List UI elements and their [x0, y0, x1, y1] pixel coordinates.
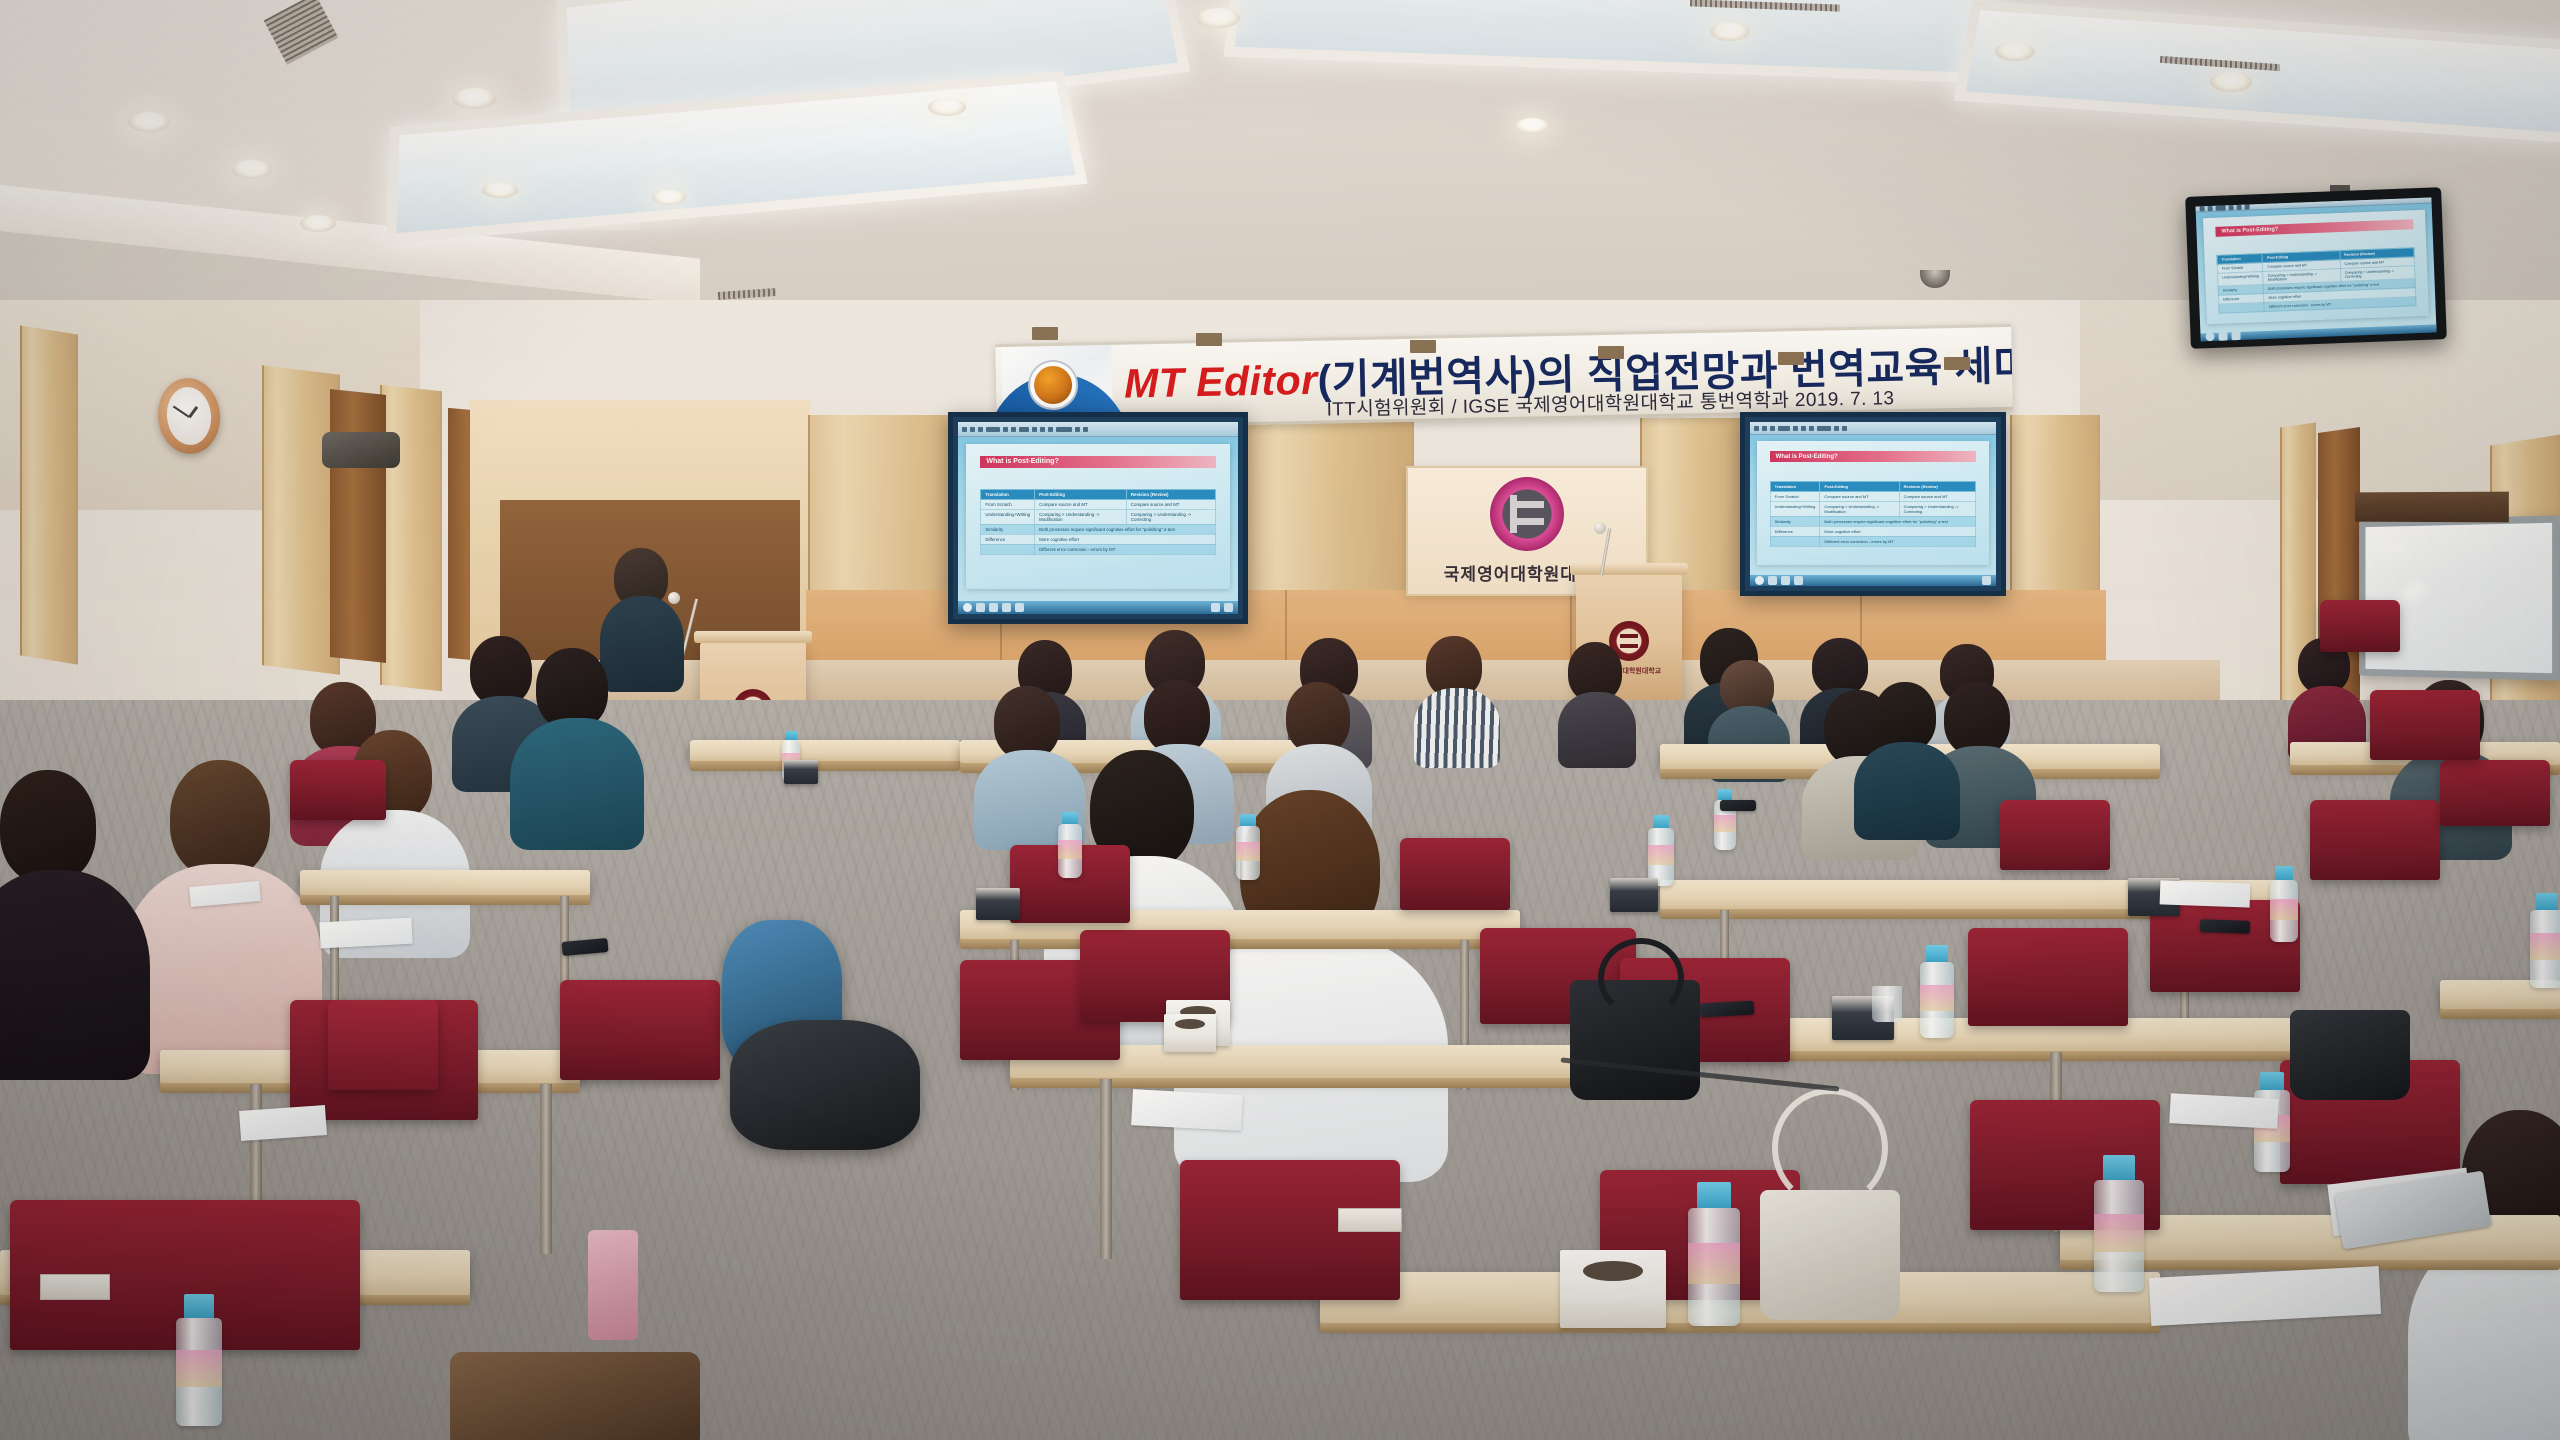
slide-col-0: Translation: [981, 489, 1035, 499]
desk-row2-left: [300, 870, 590, 896]
chair-18[interactable]: [1400, 838, 1510, 910]
wall-door-left[interactable]: [330, 389, 386, 663]
paper-5[interactable]: [2160, 880, 2251, 907]
paper-2[interactable]: [1131, 1089, 1243, 1131]
bottle-label: [2530, 933, 2560, 960]
body: [510, 718, 644, 850]
phone-2[interactable]: [1700, 1001, 1755, 1018]
cell-3-0: Difference: [981, 534, 1035, 544]
tissue-box-7[interactable]: [784, 760, 818, 784]
r-row-4: Different error correction - errors by M…: [1770, 536, 1976, 546]
tissue-box-6[interactable]: [976, 888, 1020, 920]
bottle-cap: [2275, 866, 2293, 880]
tote-bag-white[interactable]: [1760, 1190, 1900, 1320]
taskbar-right[interactable]: [1750, 575, 1996, 586]
tissue-box-1[interactable]: [1560, 1250, 1666, 1328]
ceiling-downlight-6: [652, 190, 686, 205]
slide-col-1: Post-Editing: [1035, 489, 1127, 499]
desk-leg-8: [540, 1084, 552, 1254]
r-row-3: Difference More cognitive effort: [1770, 526, 1976, 536]
head: [0, 770, 96, 884]
r-cell-1-1: Comparing > Understanding -> Modificatio…: [1820, 501, 1899, 516]
bottle-label: [1920, 985, 1954, 1011]
clock-face: [164, 385, 214, 447]
ceiling-downlight-5: [482, 182, 518, 198]
phone-4[interactable]: [1720, 800, 1756, 811]
banner-bracket-4: [1598, 346, 1624, 359]
left-projection-screen: What is Post-Editing? Translation Post-E…: [948, 412, 1248, 624]
r-cell-3-1: More cognitive effort: [1820, 526, 1976, 536]
head: [1144, 680, 1210, 754]
bottle-cap: [785, 731, 797, 740]
jacket-on-chair: [322, 432, 400, 468]
desk-back-left: [690, 740, 960, 762]
handbag-handle: [1598, 938, 1684, 1018]
cell-4-0: [981, 544, 1035, 554]
water-bottle-8[interactable]: [1058, 824, 1082, 878]
head: [994, 686, 1060, 760]
body: [1854, 742, 1960, 840]
water-bottle-11[interactable]: [2530, 910, 2560, 988]
water-bottle-2[interactable]: [1688, 1208, 1740, 1326]
slide-row-3: Difference More cognitive effort: [981, 534, 1215, 544]
igse-crest-emblem: [1490, 477, 1564, 551]
cell-0-1: Compare source and MT: [1035, 499, 1127, 509]
crest-stem: [1510, 495, 1517, 533]
ceiling-downlight-12: [1515, 118, 1549, 133]
tv-cell-4-0: [2219, 303, 2265, 314]
r-row-0: From Scratch Compare source and MT Compa…: [1770, 491, 1976, 501]
water-bottle-3[interactable]: [2094, 1180, 2144, 1292]
bottle-cap: [1926, 945, 1948, 962]
water-bottle-1[interactable]: [176, 1318, 222, 1426]
body: [1558, 692, 1636, 768]
water-bottle-7[interactable]: [1236, 826, 1260, 880]
chair-20[interactable]: [290, 760, 386, 820]
water-bottle-4[interactable]: [1920, 962, 1954, 1038]
ceiling-downlight-2: [232, 160, 272, 179]
body: [1414, 688, 1500, 768]
ceiling-downlight-4: [452, 88, 496, 109]
whiteboard-glare-1: [2378, 542, 2406, 552]
r-cell-1-2: Comparing > Understanding -> Correcting: [1899, 501, 1976, 516]
clock-minute-hand: [173, 406, 190, 418]
slide-title-tv: What is Post-Editing?: [2215, 220, 2413, 238]
banner-bracket-3: [1410, 340, 1436, 353]
r-cell-3-0: Difference: [1770, 526, 1820, 536]
r-cell-1-0: Understanding+Writing: [1770, 501, 1820, 516]
bottle-cap: [1718, 789, 1732, 800]
bottle-cap: [184, 1294, 213, 1318]
cell-1-1: Comparing > Understanding -> Modificatio…: [1035, 509, 1127, 524]
whiteboard-glare-2: [2400, 578, 2428, 603]
tissue-opening: [1583, 1261, 1642, 1281]
right-screen-slide: What is Post-Editing? Translation Post-E…: [1750, 422, 1996, 586]
water-bottle-5[interactable]: [2270, 880, 2298, 942]
ceiling-downlight-7: [928, 98, 966, 116]
banner-bracket-1: [1032, 327, 1058, 340]
bottle-cap: [1062, 812, 1077, 824]
bottle-cap: [2536, 893, 2558, 910]
tissue-box-8[interactable]: [1164, 1014, 1216, 1052]
head: [1944, 682, 2010, 756]
cell-4-1: Different error correction - errors by M…: [1035, 544, 1216, 554]
cell-2-1: Both processes require significant cogni…: [1035, 524, 1216, 534]
phone-3[interactable]: [2200, 919, 2250, 934]
powerpoint-toolbar-right[interactable]: [1750, 422, 1996, 435]
r-cell-0-1: Compare source and MT: [1820, 491, 1899, 501]
chair-19[interactable]: [2000, 800, 2110, 870]
podium-center-top: [1570, 563, 1689, 575]
r-cell-4-0: [1770, 536, 1820, 546]
tissue-opening: [1175, 1019, 1204, 1029]
left-screen-slide: What is Post-Editing? Translation Post-E…: [958, 422, 1238, 614]
desk-leg-9: [1100, 1079, 1112, 1259]
bottle-label: [1714, 815, 1736, 832]
cell-1-0: Understanding+Writing: [981, 509, 1035, 524]
slide-header-row: Translation Post-Editing Revision (Revie…: [981, 489, 1215, 499]
chair-16[interactable]: [328, 1000, 438, 1090]
slide-header-row-r: Translation Post-Editing Revision (Revie…: [1770, 481, 1976, 491]
audience-person-l5: [140, 760, 300, 1060]
bag-black-right[interactable]: [2290, 1010, 2410, 1100]
cup-clear[interactable]: [1872, 986, 1902, 1022]
bottle-label: [2270, 899, 2298, 920]
bottle-cap: [1653, 815, 1670, 828]
slide-page-right: What is Post-Editing? Translation Post-E…: [1757, 441, 1988, 564]
body: [0, 870, 150, 1080]
wall-wood-strip-l3: [380, 385, 442, 692]
slide-col-2: Revision (Review): [1126, 489, 1215, 499]
r-col-0: Translation: [1770, 481, 1820, 491]
audience-person-b5: [1560, 642, 1632, 752]
powerpoint-toolbar-left[interactable]: [958, 422, 1238, 437]
slide-row-0: From Scratch Compare source and MT Compa…: [981, 499, 1215, 509]
nameplate-chair-2: [40, 1274, 110, 1300]
slide-title-left: What is Post-Editing?: [980, 456, 1215, 468]
taskbar-tv[interactable]: [2200, 324, 2436, 341]
r-col-2: Revision (Review): [1899, 481, 1976, 491]
chair-2[interactable]: [560, 980, 720, 1080]
ceiling-downlight-3: [300, 215, 336, 232]
right-projection-screen: What is Post-Editing? Translation Post-E…: [1740, 412, 2006, 596]
chair-21[interactable]: [2320, 600, 2400, 652]
audience-person-f4: [1860, 682, 1952, 828]
cell-0-2: Compare source and MT: [1126, 499, 1215, 509]
seminar-room-photo: MT Editor(기계번역사)의 직업전망과 번역교육 세미나 ITT시험위원…: [0, 0, 2560, 1440]
bottle-cap: [2103, 1155, 2135, 1180]
slide-row-1: Understanding+Writing Comparing > Unders…: [981, 509, 1215, 524]
bottle-label: [176, 1350, 222, 1387]
cell-2-0: Similarity: [981, 524, 1035, 534]
ceiling-downlight-10: [1995, 42, 2035, 61]
cell-1-2: Comparing > Understanding -> Correcting: [1126, 509, 1215, 524]
audience-person-b4: [1418, 636, 1492, 752]
bottle-label: [1688, 1243, 1740, 1283]
slide-page-tv: What is Post-Editing? Translation Post-E…: [2203, 210, 2429, 324]
audience-person-b10: [2290, 638, 2360, 748]
slide-title-right: What is Post-Editing?: [1770, 451, 1977, 462]
bottle-label: [1236, 842, 1260, 860]
paper-4[interactable]: [319, 918, 412, 949]
r-row-2: Similarity Both processes require signif…: [1770, 516, 1976, 526]
wall-wood-strip-l1: [20, 325, 78, 664]
ceiling-downlight-1: [128, 112, 170, 132]
slide-table-tv: Translation Post-Editing Revision (Revie…: [2216, 247, 2416, 314]
paper-7[interactable]: [2169, 1093, 2278, 1129]
banner-bracket-2: [1196, 333, 1222, 346]
r-row-1: Understanding+Writing Comparing > Unders…: [1770, 501, 1976, 516]
chair-9[interactable]: [2310, 800, 2440, 880]
cell-3-1: More cognitive effort: [1035, 534, 1216, 544]
ceiling-downlight-8: [1196, 8, 1240, 28]
banner-bracket-5: [1778, 352, 1804, 365]
banner-title-en: MT Editor: [1124, 357, 1318, 407]
r-cell-0-0: From Scratch: [1770, 491, 1820, 501]
r-cell-0-2: Compare source and MT: [1899, 491, 1976, 501]
wall-mounted-tv: What is Post-Editing? Translation Post-E…: [2185, 187, 2447, 349]
audience-person-l3: [520, 648, 630, 848]
slide-row-4: Different error correction - errors by M…: [981, 544, 1215, 554]
bottle-label: [1648, 845, 1674, 865]
ceiling-downlight-9: [1710, 22, 1750, 41]
tv-screen-slide: What is Post-Editing? Translation Post-E…: [2196, 198, 2437, 339]
podium-left-top: [694, 631, 813, 643]
slide-table-right: Translation Post-Editing Revision (Revie…: [1770, 481, 1977, 547]
nameplate-chair: [1338, 1208, 1402, 1232]
microphone-center: [1594, 522, 1606, 534]
chair-7[interactable]: [1968, 928, 2128, 1026]
cell-0-0: From Scratch: [981, 499, 1035, 509]
backpack-black[interactable]: [730, 1020, 920, 1150]
bottle-label: [1058, 840, 1082, 858]
slide-row-2: Similarity Both processes require signif…: [981, 524, 1215, 534]
whiteboard[interactable]: [2359, 515, 2559, 680]
bottle-cap: [2260, 1072, 2283, 1090]
r-cell-4-1: Different error correction - errors by M…: [1820, 536, 1976, 546]
tissue-box-5[interactable]: [1610, 878, 1658, 912]
paper-1[interactable]: [239, 1105, 327, 1141]
r-cell-2-0: Similarity: [1770, 516, 1820, 526]
bag-pink-small[interactable]: [588, 1230, 638, 1340]
bottle-cap: [1697, 1182, 1730, 1208]
slide-table-left: Translation Post-Editing Revision (Revie…: [980, 489, 1215, 555]
wall-wood-strip-l2: [262, 365, 340, 675]
whiteboard-top-trim: [2355, 492, 2509, 523]
ceiling-downlight-11: [2210, 72, 2252, 92]
slide-page-left: What is Post-Editing? Translation Post-E…: [966, 444, 1229, 589]
audience-person-l6: [0, 770, 130, 1070]
chair-10[interactable]: [2440, 760, 2550, 826]
banner-bracket-6: [1944, 357, 1970, 370]
r-col-1: Post-Editing: [1820, 481, 1899, 491]
r-cell-2-1: Both processes require significant cogni…: [1820, 516, 1976, 526]
bottle-label: [2094, 1214, 2144, 1252]
handbag-brown-foreground[interactable]: [450, 1352, 700, 1440]
head: [170, 760, 270, 878]
chair-22[interactable]: [2370, 690, 2480, 760]
taskbar-left[interactable]: [958, 601, 1238, 614]
bottle-cap: [1240, 814, 1255, 826]
